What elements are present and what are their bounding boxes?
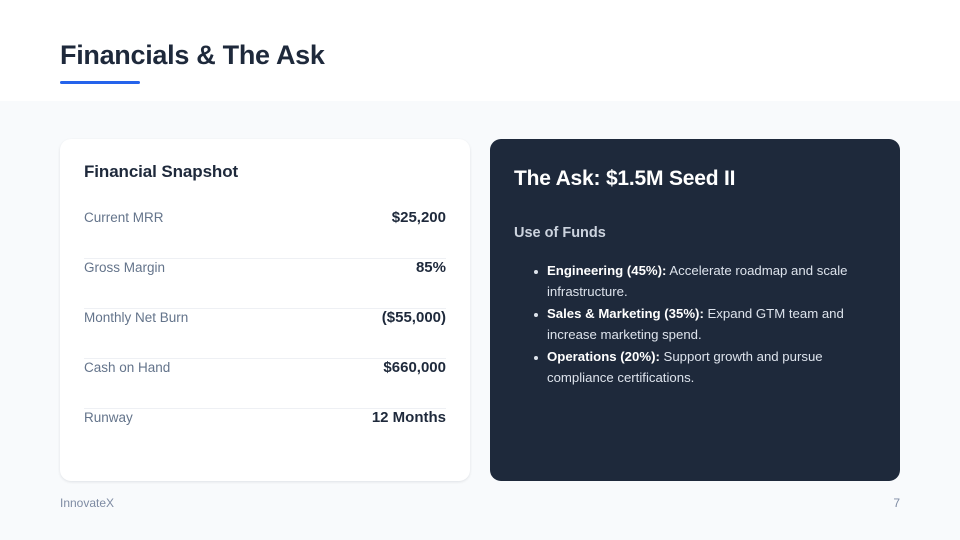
metric-value: 12 Months (372, 409, 446, 426)
list-item: Engineering (45%): Accelerate roadmap an… (534, 261, 874, 302)
table-row: Runway 12 Months (84, 409, 446, 459)
metric-value: $660,000 (383, 359, 446, 376)
slide-header-inner: Financials & The Ask (60, 38, 325, 84)
list-item-lead: Sales & Marketing (35%): (547, 306, 704, 321)
metric-label: Runway (84, 410, 133, 425)
financial-snapshot-heading: Financial Snapshot (84, 161, 446, 183)
financial-snapshot-card: Financial Snapshot Current MRR $25,200 G… (60, 139, 470, 481)
metric-label: Gross Margin (84, 260, 165, 275)
metric-list: Current MRR $25,200 Gross Margin 85% Mon… (84, 209, 446, 459)
footer-brand: InnovateX (60, 495, 114, 511)
the-ask-title: The Ask: $1.5M Seed II (514, 165, 874, 192)
list-item: Operations (20%): Support growth and pur… (534, 347, 874, 388)
the-ask-card: The Ask: $1.5M Seed II Use of Funds Engi… (490, 139, 900, 481)
bullet-icon (534, 270, 538, 274)
footer-page-number: 7 (893, 495, 900, 511)
metric-value: $25,200 (392, 209, 446, 226)
metric-label: Cash on Hand (84, 360, 170, 375)
metric-value: ($55,000) (382, 309, 446, 326)
slide-footer: InnovateX 7 (0, 495, 960, 521)
metric-value: 85% (416, 259, 446, 276)
bullet-icon (534, 313, 538, 317)
metric-label: Monthly Net Burn (84, 310, 188, 325)
title-accent-rule (60, 81, 140, 84)
slide-header: Financials & The Ask (0, 0, 960, 101)
use-of-funds-list: Engineering (45%): Accelerate roadmap an… (514, 261, 874, 388)
use-of-funds-heading: Use of Funds (514, 224, 874, 243)
metric-label: Current MRR (84, 210, 164, 225)
slide-body: Financial Snapshot Current MRR $25,200 G… (0, 101, 960, 540)
table-row: Monthly Net Burn ($55,000) (84, 309, 446, 359)
list-item: Sales & Marketing (35%): Expand GTM team… (534, 304, 874, 345)
list-item-lead: Operations (20%): (547, 349, 660, 364)
table-row: Cash on Hand $660,000 (84, 359, 446, 409)
table-row: Gross Margin 85% (84, 259, 446, 309)
page-title: Financials & The Ask (60, 38, 325, 72)
table-row: Current MRR $25,200 (84, 209, 446, 259)
list-item-lead: Engineering (45%): (547, 263, 666, 278)
bullet-icon (534, 356, 538, 360)
slide: Financials & The Ask Financial Snapshot … (0, 0, 960, 540)
